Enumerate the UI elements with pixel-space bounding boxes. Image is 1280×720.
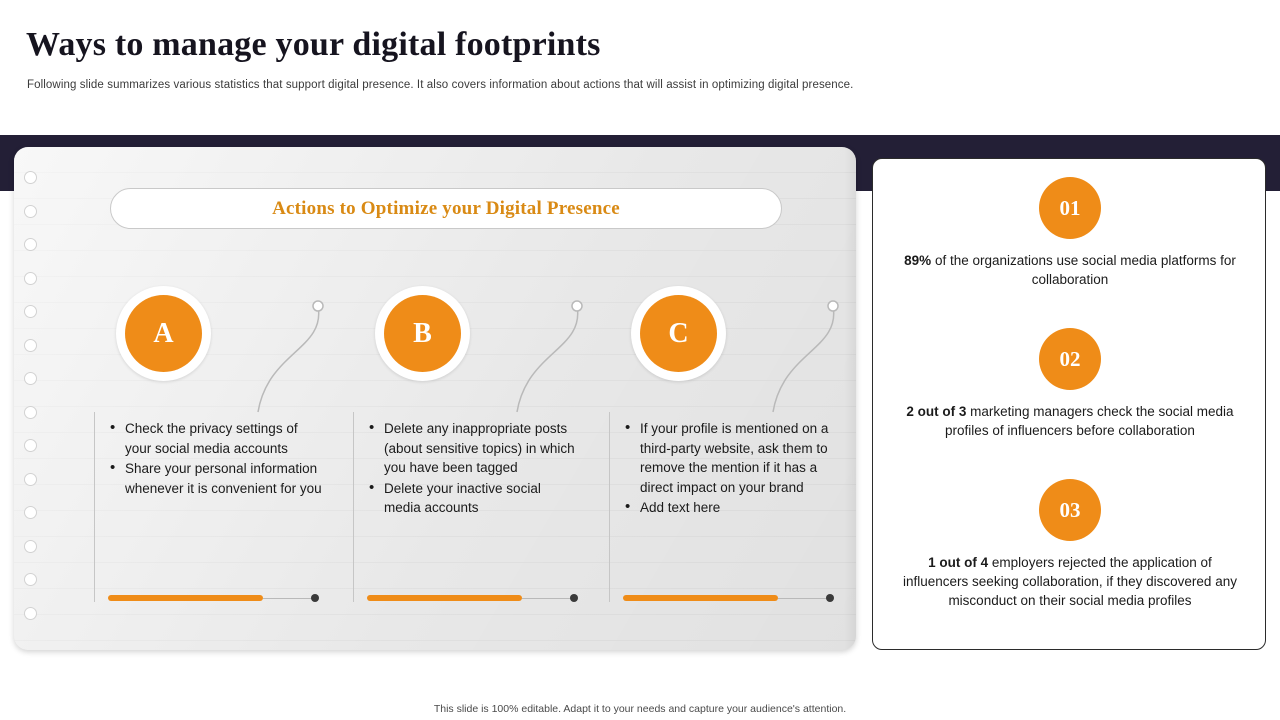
list-item: Share your personal information whenever… bbox=[108, 459, 322, 498]
stat-bold-03: 1 out of 4 bbox=[928, 555, 988, 570]
underline-row-b bbox=[367, 594, 583, 604]
stat-number-badge-03: 03 bbox=[1039, 479, 1101, 541]
notepad-spiral-holes bbox=[24, 171, 46, 631]
list-item: Delete your inactive social media accoun… bbox=[367, 479, 581, 518]
badge-ring-b: B bbox=[375, 286, 470, 381]
list-item: Check the privacy settings of your socia… bbox=[108, 419, 322, 458]
section-heading-pill: Actions to Optimize your Digital Presenc… bbox=[110, 188, 782, 229]
underline-row-a bbox=[108, 594, 324, 604]
stat-body-02: marketing managers check the social medi… bbox=[945, 404, 1234, 438]
action-column-b: B Delete any inappropriate posts (about … bbox=[337, 286, 599, 382]
slide-root: Ways to manage your digital footprints F… bbox=[0, 0, 1280, 720]
footer-note: This slide is 100% editable. Adapt it to… bbox=[0, 703, 1280, 715]
action-column-c: C If your profile is mentioned on a thir… bbox=[593, 286, 855, 382]
notepad-edge-shadow bbox=[844, 147, 856, 650]
badge-wrap-c: C bbox=[593, 286, 693, 382]
stat-body-01: of the organizations use social media pl… bbox=[931, 253, 1236, 287]
list-item: Delete any inappropriate posts (about se… bbox=[367, 419, 581, 478]
connector-curve-c bbox=[713, 294, 843, 419]
underline-row-c bbox=[623, 594, 839, 604]
stat-bold-01: 89% bbox=[904, 253, 931, 268]
list-item: Add text here bbox=[623, 498, 837, 518]
stat-text-03: 1 out of 4 employers rejected the applic… bbox=[873, 553, 1267, 610]
stat-text-01: 89% of the organizations use social medi… bbox=[873, 251, 1267, 289]
badge-letter-b: B bbox=[384, 295, 461, 372]
stat-number-badge-01: 01 bbox=[1039, 177, 1101, 239]
section-heading-label: Actions to Optimize your Digital Presenc… bbox=[272, 198, 620, 220]
badge-letter-c: C bbox=[640, 295, 717, 372]
badge-letter-a: A bbox=[125, 295, 202, 372]
bullet-list-b: Delete any inappropriate posts (about se… bbox=[367, 419, 581, 519]
bullet-list-a: Check the privacy settings of your socia… bbox=[108, 419, 322, 499]
badge-ring-c: C bbox=[631, 286, 726, 381]
stat-item-01: 01 89% of the organizations use social m… bbox=[873, 177, 1267, 289]
connector-curve-a bbox=[198, 294, 328, 419]
stat-number-badge-02: 02 bbox=[1039, 328, 1101, 390]
action-column-a: A Check the privacy settings of your soc… bbox=[78, 286, 340, 382]
stat-text-02: 2 out of 3 marketing managers check the … bbox=[873, 402, 1267, 440]
statistics-panel: 01 89% of the organizations use social m… bbox=[872, 158, 1266, 650]
badge-wrap-b: B bbox=[337, 286, 437, 382]
page-subtitle: Following slide summarizes various stati… bbox=[27, 79, 853, 91]
list-item: If your profile is mentioned on a third-… bbox=[623, 419, 837, 497]
stat-item-02: 02 2 out of 3 marketing managers check t… bbox=[873, 328, 1267, 440]
page-title: Ways to manage your digital footprints bbox=[26, 26, 601, 64]
stat-item-03: 03 1 out of 4 employers rejected the app… bbox=[873, 479, 1267, 610]
bullet-list-c: If your profile is mentioned on a third-… bbox=[623, 419, 837, 519]
badge-ring-a: A bbox=[116, 286, 211, 381]
connector-curve-b bbox=[457, 294, 587, 419]
stat-bold-02: 2 out of 3 bbox=[906, 404, 966, 419]
badge-wrap-a: A bbox=[78, 286, 178, 382]
